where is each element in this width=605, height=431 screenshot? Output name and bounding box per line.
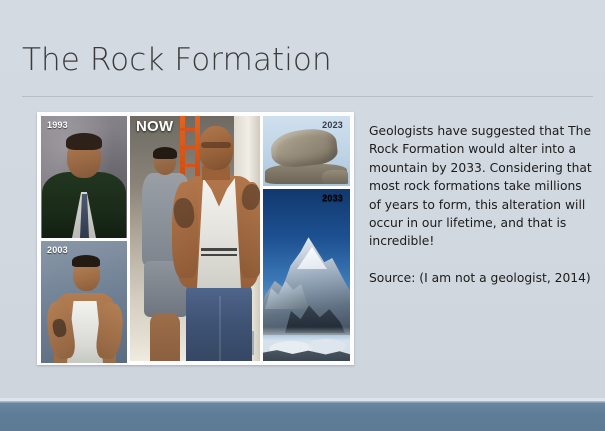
cloud-shape — [308, 339, 346, 353]
photo-year-label-2003: 2003 — [47, 245, 68, 255]
collage-photo-2023[interactable]: 2023 — [263, 116, 350, 186]
boulder-shape — [269, 127, 338, 170]
jeans-shape — [186, 282, 252, 361]
bottom-accent-band — [0, 403, 605, 431]
collage-photo-now[interactable]: NOW — [130, 116, 260, 361]
page-title: The Rock Formation — [22, 42, 332, 78]
image-collage[interactable]: 1993 2003 — [37, 112, 354, 365]
collage-photo-2033[interactable]: 2033 — [263, 189, 350, 361]
hair-shape — [72, 255, 100, 267]
collage-column-center: NOW — [130, 116, 260, 361]
main-subject-shape — [172, 126, 260, 361]
hair-shape — [66, 133, 102, 150]
presentation-slide: The Rock Formation 1993 2003 — [0, 0, 605, 431]
collage-column-right: 2023 2033 — [263, 116, 350, 361]
body-text-block: Geologists have suggested that The Rock … — [369, 122, 597, 287]
rock-base-secondary-shape — [322, 170, 348, 184]
face-shape — [199, 126, 233, 170]
left-arm-shape — [172, 182, 198, 278]
source-citation: Source: (I am not a geologist, 2014) — [369, 269, 597, 287]
photo-year-label-2023: 2023 — [322, 120, 343, 130]
body-paragraph: Geologists have suggested that The Rock … — [369, 122, 597, 251]
photo-year-label-2033: 2033 — [322, 193, 343, 203]
collage-photo-1993[interactable]: 1993 — [41, 116, 127, 238]
brow-shadow-shape — [201, 142, 231, 148]
photo-label-now: NOW — [136, 118, 173, 135]
collage-photo-2003[interactable]: 2003 — [41, 241, 127, 363]
photo-year-label-1993: 1993 — [47, 120, 68, 130]
collage-column-left: 1993 2003 — [41, 116, 127, 361]
tank-top-print-shape — [201, 246, 237, 259]
title-divider — [22, 96, 593, 97]
